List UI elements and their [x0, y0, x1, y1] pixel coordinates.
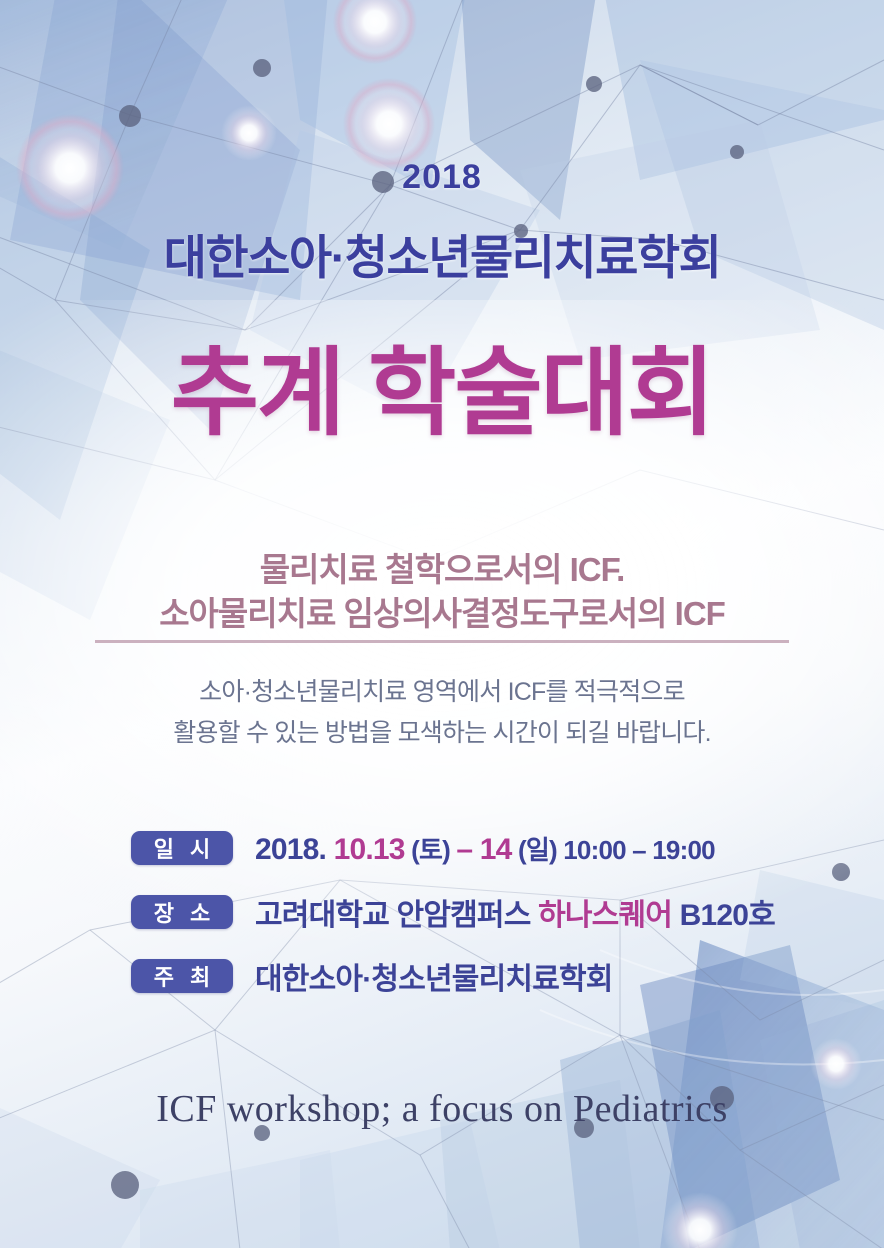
lead-line-2: 활용할 수 있는 방법을 모색하는 시간이 되길 바랍니다. — [0, 713, 884, 754]
date-start-weekday: (토) — [405, 835, 457, 865]
venue-room: B120호 — [672, 899, 775, 932]
page-title: 추계 학술대회 — [0, 344, 884, 445]
lead-line-1: 소아·청소년물리치료 영역에서 ICF를 적극적으로 — [0, 672, 884, 713]
badge-host: 주 최 — [131, 959, 233, 993]
info-value-date: 2018. 10.13 (토) – 14 (일) 10:00 – 19:00 — [255, 830, 715, 867]
year-label: 2018 — [0, 158, 884, 197]
venue-building: 하나스퀘어 — [538, 899, 672, 932]
date-end-day: – 14 — [456, 833, 511, 866]
badge-date: 일 시 — [131, 831, 233, 865]
english-tagline: ICF workshop; a focus on Pediatrics — [0, 1087, 884, 1131]
subtitle-line-1: 물리치료 철학으로서의 ICF. — [0, 548, 884, 592]
poster-content: 2018 대한소아·청소년물리치료학회 추계 학술대회 물리치료 철학으로서의 … — [0, 0, 884, 1248]
info-row-date: 일 시 2018. 10.13 (토) – 14 (일) 10:00 – 19:… — [131, 827, 831, 869]
venue-campus: 고려대학교 안암캠퍼스 — [255, 899, 538, 932]
lead-paragraph: 소아·청소년물리치료 영역에서 ICF를 적극적으로 활용할 수 있는 방법을 … — [0, 672, 884, 753]
info-row-venue: 장 소 고려대학교 안암캠퍼스 하나스퀘어 B120호 — [131, 891, 831, 933]
date-end-weekday-and-time: (일) 10:00 – 19:00 — [512, 835, 715, 865]
subtitle: 물리치료 철학으로서의 ICF. 소아물리치료 임상의사결정도구로서의 ICF — [0, 548, 884, 635]
host-name: 대한소아·청소년물리치료학회 — [255, 963, 613, 996]
info-row-host: 주 최 대한소아·청소년물리치료학회 — [131, 955, 831, 997]
date-year: 2018. — [255, 833, 334, 866]
badge-venue: 장 소 — [131, 895, 233, 929]
info-block: 일 시 2018. 10.13 (토) – 14 (일) 10:00 – 19:… — [131, 827, 831, 1019]
organization-heading: 대한소아·청소년물리치료학회 — [0, 219, 884, 288]
info-value-venue: 고려대학교 안암캠퍼스 하나스퀘어 B120호 — [255, 890, 775, 934]
divider-rule — [95, 640, 789, 643]
date-start-day: 10.13 — [334, 833, 405, 866]
poster-root: 2018 대한소아·청소년물리치료학회 추계 학술대회 물리치료 철학으로서의 … — [0, 0, 884, 1248]
info-value-host: 대한소아·청소년물리치료학회 — [255, 954, 613, 998]
subtitle-line-2: 소아물리치료 임상의사결정도구로서의 ICF — [0, 592, 884, 636]
